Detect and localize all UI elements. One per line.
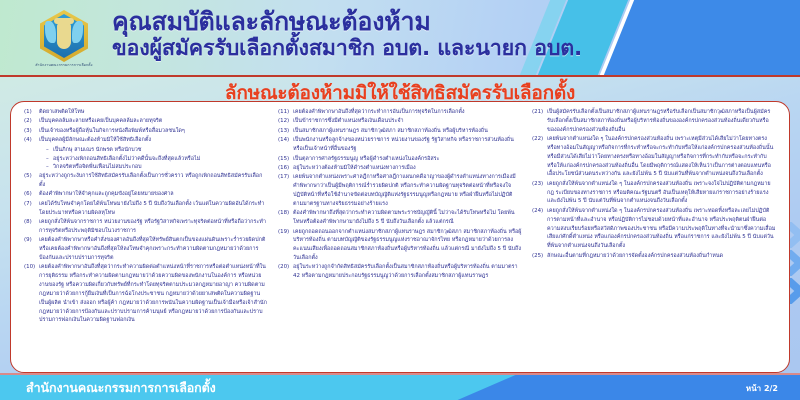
list-subitem-text: เป็นภิกษุ สามเณร นักพรต หรือนักบวช: [53, 146, 141, 155]
list-item-text: เคยต้องคำพิพากษาอันถึงที่สุดว่ากระทำการอ…: [293, 108, 522, 117]
page-indicator: หน้า 2/2: [746, 382, 778, 395]
content-card: (1)ติดยาเสพติดให้โทษ(2)เป็นบุคคลล้มละลาย…: [10, 101, 790, 373]
list-item: (22)เคยพ้นจากตำแหน่งใด ๆ ในองค์กรปกครองส…: [532, 135, 776, 179]
list-item: (7)เคยได้รับโทษจำคุกโดยได้พ้นโทษมายังไม่…: [24, 200, 268, 218]
list-item: (5)อยู่ระหว่างถูกระงับการใช้สิทธิสมัครรั…: [24, 172, 268, 190]
emblem-vase: [57, 23, 71, 49]
list-item-text: เป็นข้าราชการซึ่งมีตำแหน่งหรือเงินเดือนป…: [293, 117, 522, 126]
list-item-text: ต้องคำพิพากษาให้จำคุกและถูกคุมขังอยู่โดย…: [39, 190, 268, 199]
list-item-text: เคยพ้นจากตำแหน่งใด ๆ ในองค์กรปกครองส่วนท…: [547, 135, 776, 179]
list-item-text: เคยถูกสั่งให้พ้นจากราชการ หน่วยงานของรัฐ…: [39, 218, 268, 236]
subitem-dash-icon: –: [46, 155, 53, 164]
list-item-number: (9): [24, 236, 39, 245]
title-line-2: ของผู้สมัครรับเลือกตั้งสมาชิก อบต. และนา…: [112, 37, 672, 61]
footer: สำนักงานคณะกรรมการการเลือกตั้ง หน้า 2/2: [0, 373, 800, 400]
list-item-text: อยู่ในระหว่างต้องห้ามมิให้ดำรงตำแหน่งทาง…: [293, 164, 522, 173]
list-item-text: เป็นตุลาการศาลรัฐธรรมนูญ หรือผู้ดำรงตำแห…: [293, 155, 522, 164]
list-item-text: เป็นพนักงานหรือลูกจ้างของหน่วยราชการ หน่…: [293, 136, 522, 154]
list-item: (15)เป็นตุลาการศาลรัฐธรรมนูญ หรือผู้ดำรง…: [278, 155, 522, 164]
list-item: (19)เคยถูกถอดถอนออกจากตำแหน่งสมาชิกสภาผู…: [278, 228, 522, 263]
list-item-number: (23): [532, 180, 547, 189]
list-item-number: (2): [24, 117, 39, 126]
list-item-number: (25): [532, 252, 547, 261]
list-item: (23)เคยถูกสั่งให้พ้นจากตำแหน่งใด ๆ ในองค…: [532, 180, 776, 206]
list-item: (8)เคยถูกสั่งให้พ้นจากราชการ หน่วยงานของ…: [24, 218, 268, 236]
list-item-text: อยู่ระหว่างถูกระงับการใช้สิทธิสมัครรับเล…: [39, 172, 268, 190]
list-item-text: เคยถูกถอดถอนออกจากตำแหน่งสมาชิกสภาผู้แทน…: [293, 228, 522, 263]
list-item-text: เป็นสมาชิกสภาผู้แทนราษฎร สมาชิกวุฒิสภา ส…: [293, 127, 522, 136]
list-item-number: (24): [532, 207, 547, 216]
list-item: (21)เป็นผู้สมัครรับเลือกตั้งเป็นสมาชิกสภ…: [532, 108, 776, 134]
list-subitem: –วิกลจริตหรือจิตฟั่นเฟือนไม่สมประกอบ: [24, 163, 268, 172]
list-item-text: ต้องคำพิพากษาถึงที่สุดว่ากระทำความผิดตาม…: [293, 209, 522, 227]
content-column-2: (11)เคยต้องคำพิพากษาอันถึงที่สุดว่ากระทำ…: [273, 108, 527, 368]
content-column-3: (21)เป็นผู้สมัครรับเลือกตั้งเป็นสมาชิกสภ…: [527, 108, 781, 368]
content-column-1: (1)ติดยาเสพติดให้โทษ(2)เป็นบุคคลล้มละลาย…: [19, 108, 273, 368]
infographic-poster: สำนักงานคณะกรรมการการเลือกตั้ง คุณสมบัติ…: [0, 0, 800, 400]
list-item: (14)เป็นพนักงานหรือลูกจ้างของหน่วยราชการ…: [278, 136, 522, 154]
list-item: (17)เคยพ้นจากตำแหน่งเพราะศาลฎีกาหรือศาลฎ…: [278, 173, 522, 208]
list-item-number: (17): [278, 173, 293, 182]
list-item: (1)ติดยาเสพติดให้โทษ: [24, 108, 268, 117]
list-item: (10)เคยต้องคำพิพากษาอันถึงที่สุดว่ากระทำ…: [24, 263, 268, 325]
emblem-caption: สำนักงานคณะกรรมการการเลือกตั้ง: [33, 63, 95, 68]
subitem-dash-icon: –: [46, 146, 53, 155]
list-item-text: ติดยาเสพติดให้โทษ: [39, 108, 268, 117]
list-item-text: เคยพ้นจากตำแหน่งเพราะศาลฎีกาหรือศาลฎีกาแ…: [293, 173, 522, 208]
list-item: (20)อยู่ในระหว่างถูกจำกัดสิทธิสมัครรับเล…: [278, 263, 522, 281]
list-item-number: (8): [24, 218, 39, 227]
title-line-1: คุณสมบัติและลักษณะต้องห้าม: [112, 8, 672, 35]
list-item-number: (10): [24, 263, 39, 272]
list-item: (16)อยู่ในระหว่างต้องห้ามมิให้ดำรงตำแหน่…: [278, 164, 522, 173]
list-item-number: (6): [24, 190, 39, 199]
list-item-number: (4): [24, 136, 39, 145]
list-item-number: (3): [24, 127, 39, 136]
footer-organization-name: สำนักงานคณะกรรมการการเลือกตั้ง: [26, 378, 216, 398]
list-item-text: เคยถูกสั่งให้พ้นจากตำแหน่งใด ๆ ในองค์กรป…: [547, 180, 776, 206]
list-item-number: (15): [278, 155, 293, 164]
list-item: (3)เป็นเจ้าของหรือผู้ถือหุ้นในกิจการหนัง…: [24, 127, 268, 136]
ect-emblem-icon: สำนักงานคณะกรรมการการเลือกตั้ง: [33, 7, 95, 69]
footer-top-rule: [0, 373, 800, 375]
list-item-number: (19): [278, 228, 293, 237]
page-title: คุณสมบัติและลักษณะต้องห้าม ของผู้สมัครรั…: [112, 8, 672, 61]
list-item-number: (11): [278, 108, 293, 117]
list-item: (18)ต้องคำพิพากษาถึงที่สุดว่ากระทำความผิ…: [278, 209, 522, 227]
list-item-number: (16): [278, 164, 293, 173]
list-item: (2)เป็นบุคคลล้มละลายหรือเคยเป็นบุคคลล้มล…: [24, 117, 268, 126]
list-item: (4)เป็นบุคคลผู้มีลักษณะต้องห้ามมิให้ใช้ส…: [24, 136, 268, 145]
list-item: (6)ต้องคำพิพากษาให้จำคุกและถูกคุมขังอยู่…: [24, 190, 268, 199]
list-item-number: (18): [278, 209, 293, 218]
header-divider-rule: [0, 75, 800, 77]
list-item-number: (12): [278, 117, 293, 126]
subitem-dash-icon: –: [46, 163, 53, 172]
list-item: (25)ลักษณะอื่นตามที่กฎหมายว่าด้วยการจัดต…: [532, 252, 776, 261]
list-item-text: เป็นบุคคลผู้มีลักษณะต้องห้ามมิให้ใช้สิทธ…: [39, 136, 268, 145]
list-subitem: –เป็นภิกษุ สามเณร นักพรต หรือนักบวช: [24, 146, 268, 155]
list-item-text: เคยต้องคำพิพากษาอันถึงที่สุดว่ากระทำความ…: [39, 263, 268, 325]
list-item-text: เคยต้องคำพิพากษาหรือคำสั่งของศาลอันถึงที…: [39, 236, 268, 262]
list-item-text: เป็นผู้สมัครรับเลือกตั้งเป็นสมาชิกสภาผู้…: [547, 108, 776, 134]
list-item-text: เป็นเจ้าของหรือผู้ถือหุ้นในกิจการหนังสือ…: [39, 127, 268, 136]
list-item: (12)เป็นข้าราชการซึ่งมีตำแหน่งหรือเงินเด…: [278, 117, 522, 126]
list-item-number: (14): [278, 136, 293, 145]
content-columns: (1)ติดยาเสพติดให้โทษ(2)เป็นบุคคลล้มละลาย…: [11, 102, 789, 372]
list-item-text: เป็นบุคคลล้มละลายหรือเคยเป็นบุคคลล้มละลา…: [39, 117, 268, 126]
list-item: (13)เป็นสมาชิกสภาผู้แทนราษฎร สมาชิกวุฒิส…: [278, 127, 522, 136]
list-subitem-text: วิกลจริตหรือจิตฟั่นเฟือนไม่สมประกอบ: [53, 163, 142, 172]
list-item-number: (13): [278, 127, 293, 136]
list-item-number: (1): [24, 108, 39, 117]
list-item-text: อยู่ในระหว่างถูกจำกัดสิทธิสมัครรับเลือกต…: [293, 263, 522, 281]
list-item-number: (20): [278, 263, 293, 272]
list-item-text: ลักษณะอื่นตามที่กฎหมายว่าด้วยการจัดตั้งอ…: [547, 252, 776, 261]
list-item-number: (22): [532, 135, 547, 144]
list-subitem-text: อยู่ระหว่างเพิกถอนสิทธิเลือกตั้งไม่ว่าคด…: [53, 155, 200, 164]
list-item: (9)เคยต้องคำพิพากษาหรือคำสั่งของศาลอันถึ…: [24, 236, 268, 262]
list-item-number: (7): [24, 200, 39, 209]
list-item: (24)เคยถูกสั่งให้พ้นจากตำแหน่งใด ๆ ในองค…: [532, 207, 776, 251]
list-item-number: (21): [532, 108, 547, 117]
list-item-number: (5): [24, 172, 39, 181]
list-item-text: เคยถูกสั่งให้พ้นจากตำแหน่งใด ๆ ในองค์กรป…: [547, 207, 776, 251]
list-item: (11)เคยต้องคำพิพากษาอันถึงที่สุดว่ากระทำ…: [278, 108, 522, 117]
list-subitem: –อยู่ระหว่างเพิกถอนสิทธิเลือกตั้งไม่ว่าค…: [24, 155, 268, 164]
list-item-text: เคยได้รับโทษจำคุกโดยได้พ้นโทษมายังไม่ถึง…: [39, 200, 268, 218]
